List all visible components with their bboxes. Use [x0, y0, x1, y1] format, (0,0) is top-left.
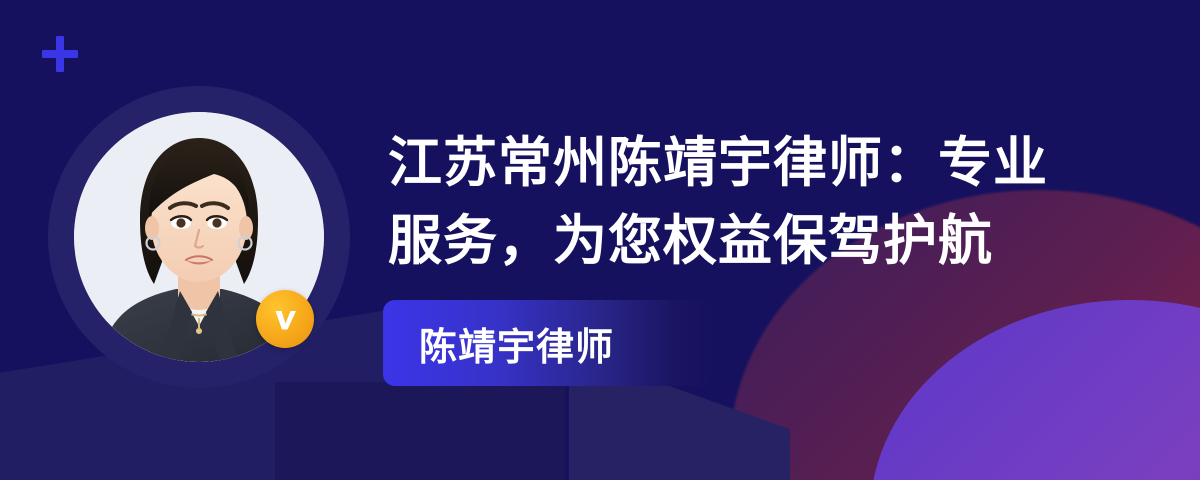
lawyer-promo-banner: 江苏常州陈靖宇律师：专业服务，为您权益保驾护航 陈靖宇律师 [0, 0, 1200, 480]
headline-block: 江苏常州陈靖宇律师：专业服务，为您权益保驾护航 [388, 124, 1088, 280]
decorative-wedge-middle [275, 382, 565, 480]
lawyer-name-label: 陈靖宇律师 [383, 316, 614, 371]
verified-badge-icon [256, 290, 314, 348]
avatar [48, 86, 350, 388]
plus-icon [42, 36, 78, 72]
page-title: 江苏常州陈靖宇律师：专业服务，为您权益保驾护航 [388, 124, 1048, 280]
lawyer-name-badge[interactable]: 陈靖宇律师 [383, 300, 713, 386]
